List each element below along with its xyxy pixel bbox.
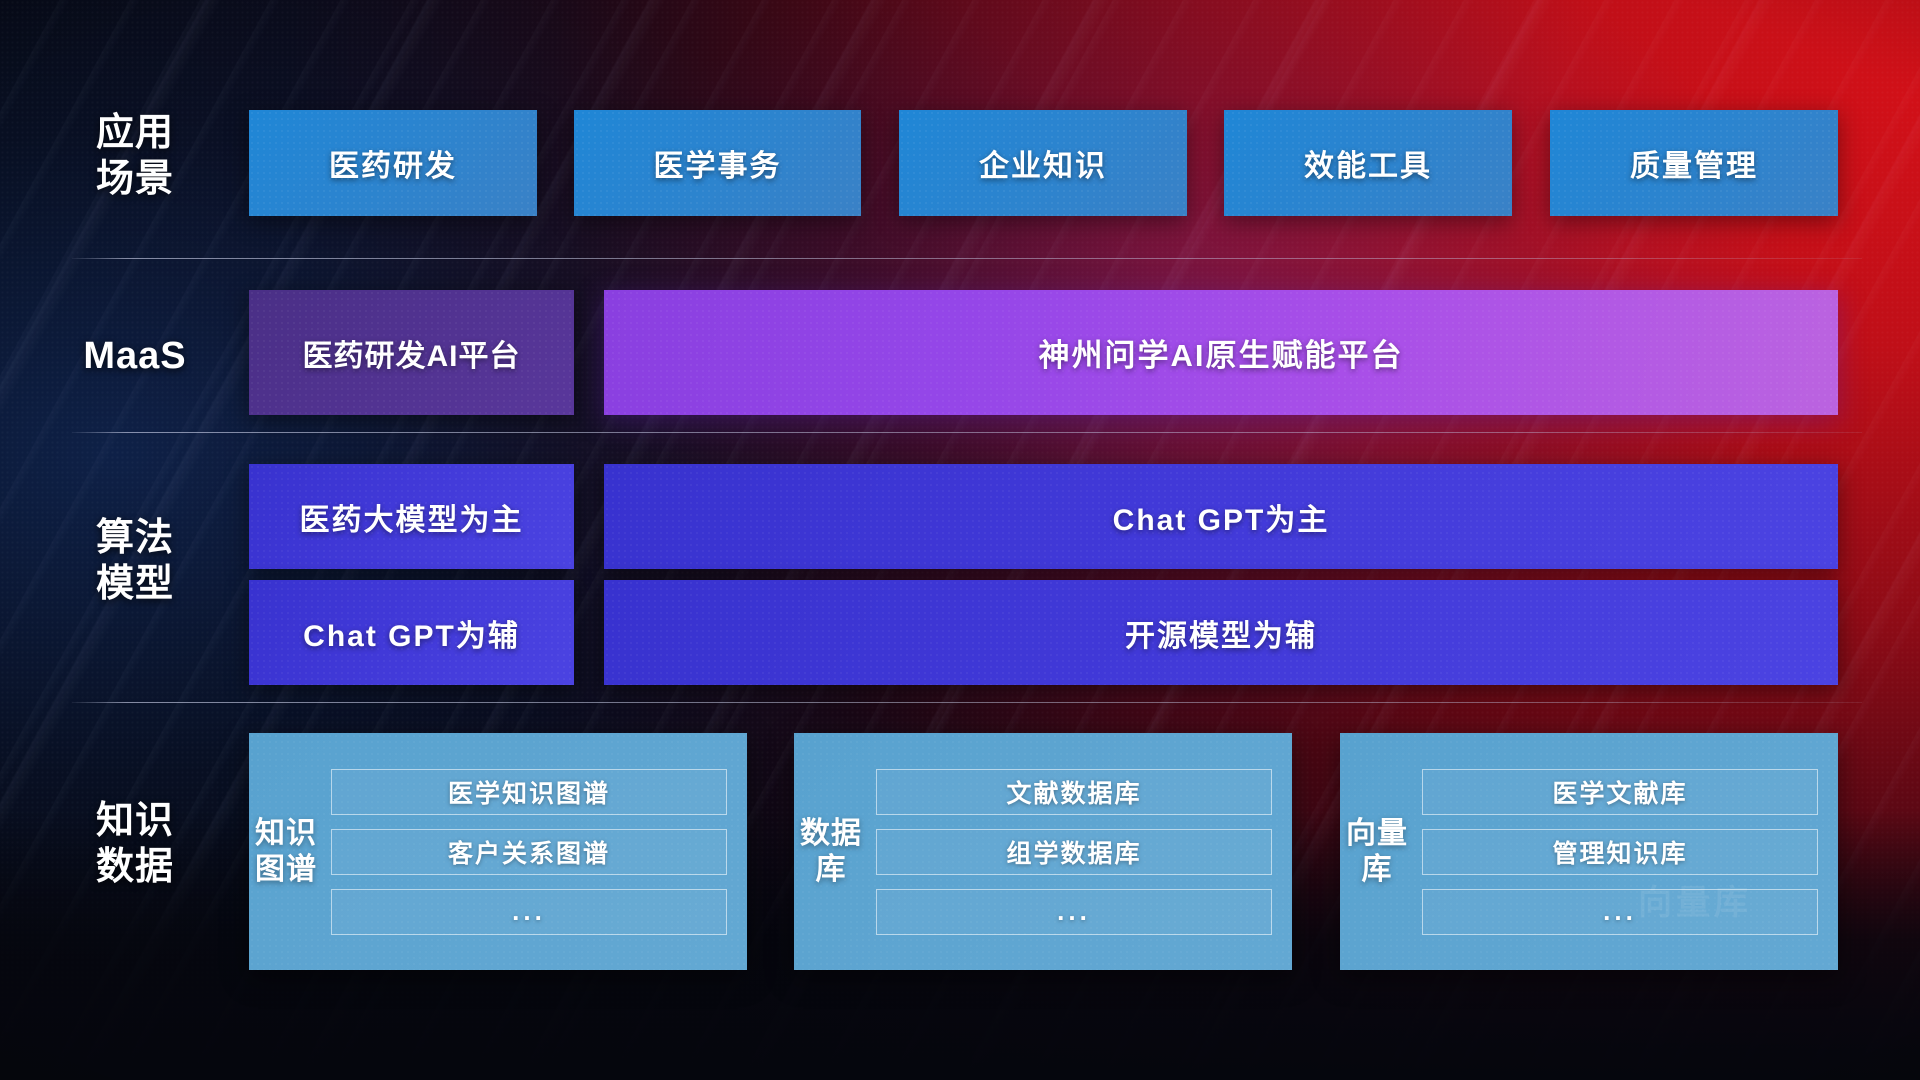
row-label-algorithm-models: 算法 模型 [72, 515, 198, 607]
algo-model-box-opensource-secondary[interactable]: 开源模型为辅 [604, 580, 1838, 685]
algo-model-box-chatgpt-primary[interactable]: Chat GPT为主 [604, 464, 1838, 569]
knowledge-item-kg-2[interactable]: 客户关系图谱 [331, 829, 727, 875]
knowledge-card-title-database: 数据库 [794, 733, 868, 970]
app-scenario-box-1[interactable]: 医药研发 [249, 110, 537, 216]
knowledge-card-database[interactable]: 数据库 文献数据库 组学数据库 ... [794, 733, 1292, 970]
knowledge-item-vs-2[interactable]: 管理知识库 [1422, 829, 1818, 875]
knowledge-card-vector-store[interactable]: 向量库 向量库 医学文献库 管理知识库 ... [1340, 733, 1838, 970]
app-scenario-label-2: 医学事务 [654, 141, 782, 185]
divider-after-application-scenarios [72, 258, 1862, 259]
architecture-diagram: 应用 场景 医药研发 医学事务 企业知识 效能工具 质量管理 MaaS 医药研发… [0, 0, 1920, 1080]
knowledge-item-db-2[interactable]: 组学数据库 [876, 829, 1272, 875]
algo-model-label-chatgpt-secondary: Chat GPT为辅 [303, 611, 520, 655]
app-scenario-box-5[interactable]: 质量管理 [1550, 110, 1838, 216]
app-scenario-label-5: 质量管理 [1630, 141, 1758, 185]
maas-platform-box-pharma[interactable]: 医药研发AI平台 [249, 290, 574, 415]
algo-model-label-chatgpt-primary: Chat GPT为主 [1113, 495, 1330, 539]
knowledge-item-db-1[interactable]: 文献数据库 [876, 769, 1272, 815]
knowledge-card-items-vector-store: 医学文献库 管理知识库 ... [1414, 733, 1838, 970]
slide-canvas: 应用 场景 医药研发 医学事务 企业知识 效能工具 质量管理 MaaS 医药研发… [0, 0, 1920, 1080]
app-scenario-label-1: 医药研发 [329, 141, 457, 185]
app-scenario-box-4[interactable]: 效能工具 [1224, 110, 1512, 216]
knowledge-card-title-knowledge-graph: 知识图谱 [249, 733, 323, 970]
knowledge-item-db-more[interactable]: ... [876, 889, 1272, 935]
row-label-knowledge-data: 知识 数据 [72, 798, 198, 890]
knowledge-item-vs-more[interactable]: ... [1422, 889, 1818, 935]
knowledge-item-vs-1[interactable]: 医学文献库 [1422, 769, 1818, 815]
app-scenario-label-3: 企业知识 [979, 141, 1107, 185]
algo-model-box-pharma-primary[interactable]: 医药大模型为主 [249, 464, 574, 569]
maas-platform-label-shenzhou: 神州问学AI原生赋能平台 [1039, 330, 1404, 375]
knowledge-card-title-vector-store: 向量库 [1340, 733, 1414, 970]
algo-model-box-chatgpt-secondary[interactable]: Chat GPT为辅 [249, 580, 574, 685]
row-label-maas: MaaS [72, 333, 198, 379]
algo-model-label-opensource-secondary: 开源模型为辅 [1125, 611, 1317, 655]
app-scenario-box-3[interactable]: 企业知识 [899, 110, 1187, 216]
maas-platform-label-pharma: 医药研发AI平台 [303, 331, 521, 375]
divider-after-maas [72, 432, 1862, 433]
row-label-application-scenarios: 应用 场景 [72, 110, 198, 202]
knowledge-card-knowledge-graph[interactable]: 知识图谱 医学知识图谱 客户关系图谱 ... [249, 733, 747, 970]
app-scenario-label-4: 效能工具 [1304, 141, 1432, 185]
knowledge-item-kg-1[interactable]: 医学知识图谱 [331, 769, 727, 815]
app-scenario-box-2[interactable]: 医学事务 [574, 110, 861, 216]
divider-after-algorithm-models [72, 702, 1862, 703]
maas-platform-box-shenzhou[interactable]: 神州问学AI原生赋能平台 [604, 290, 1838, 415]
knowledge-card-items-knowledge-graph: 医学知识图谱 客户关系图谱 ... [323, 733, 747, 970]
algo-model-label-pharma-primary: 医药大模型为主 [300, 495, 524, 539]
knowledge-item-kg-more[interactable]: ... [331, 889, 727, 935]
knowledge-card-items-database: 文献数据库 组学数据库 ... [868, 733, 1292, 970]
